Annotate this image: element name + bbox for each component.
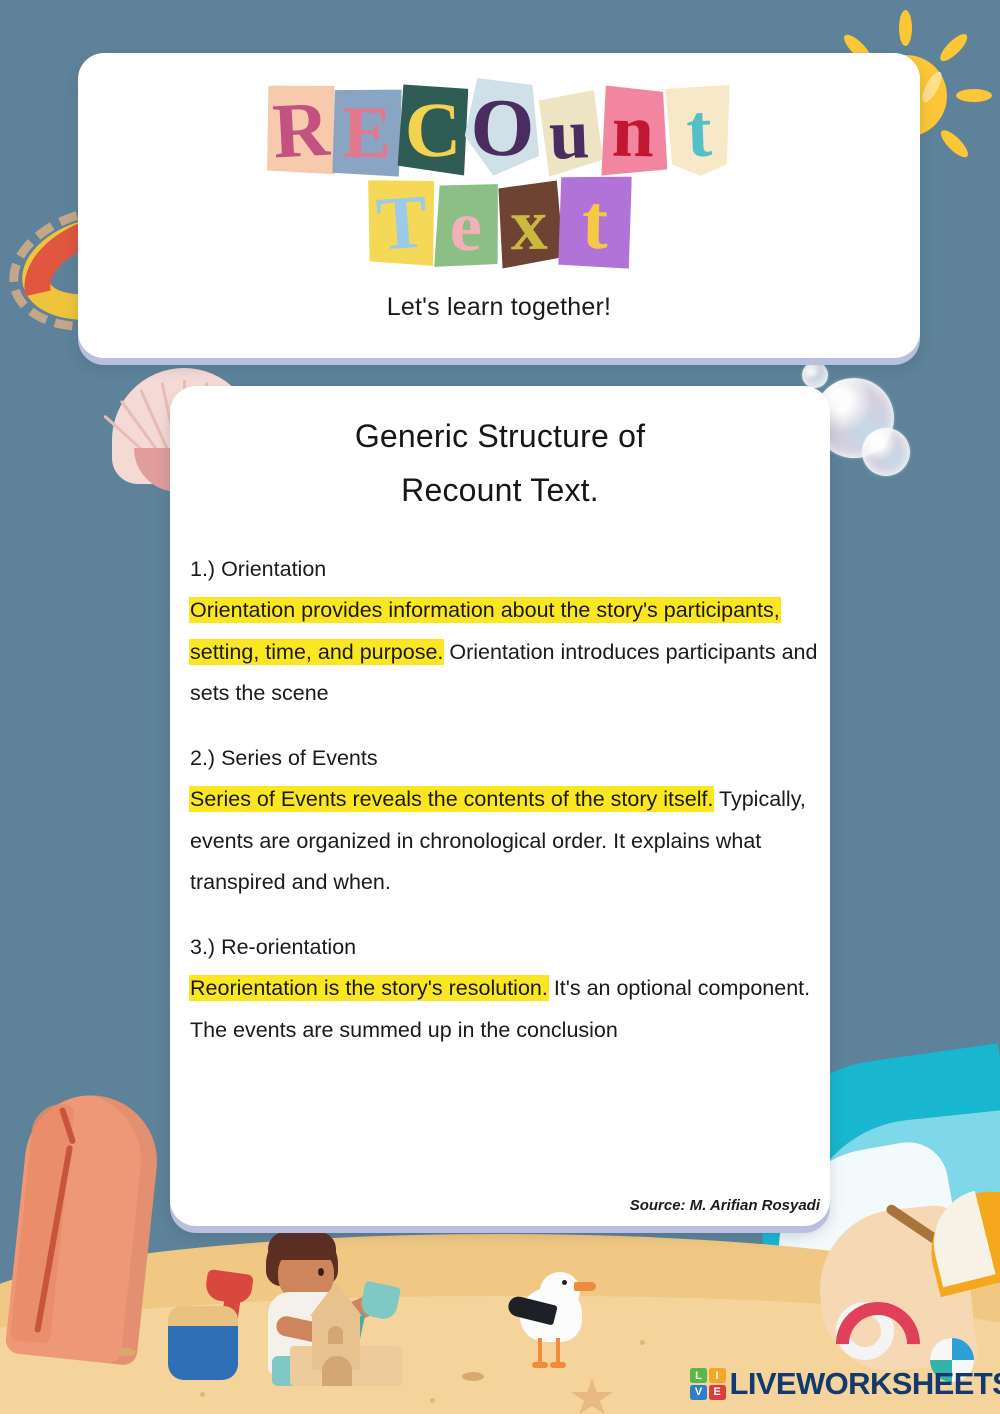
pebble-icon <box>118 1348 136 1356</box>
sections-list: 1.) OrientationOrientation provides info… <box>190 549 818 1051</box>
section-3: 3.) Re-orientationReorientation is the s… <box>190 927 818 1051</box>
bubbles-icon <box>862 428 910 476</box>
ransom-letter-t: t <box>662 85 735 177</box>
page-title-line1: Generic Structure of <box>170 410 830 464</box>
logo-tile-e: E <box>709 1385 726 1400</box>
section-title: 1.) Orientation <box>190 549 818 590</box>
surfboard-icon <box>5 1089 164 1366</box>
sand-bucket-icon <box>168 1306 238 1326</box>
bubbles-icon <box>802 362 828 388</box>
section-title: 3.) Re-orientation <box>190 927 818 968</box>
ransom-letter-E: E <box>332 88 402 176</box>
logo-tile-i: I <box>709 1368 726 1383</box>
page-title-line2: Recount Text. <box>170 464 830 518</box>
ransom-letter-n: n <box>597 85 669 176</box>
logo-tile-v: V <box>690 1385 707 1400</box>
ransom-letter-x: x <box>494 180 564 268</box>
highlighted-text: Series of Events reveals the contents of… <box>190 787 713 811</box>
section-2: 2.) Series of EventsSeries of Events rev… <box>190 738 818 903</box>
subtitle: Let's learn together! <box>78 293 920 322</box>
ransom-letter-C: C <box>396 83 470 176</box>
ransom-letter-u: u <box>534 90 603 177</box>
section-body: Series of Events reveals the contents of… <box>190 779 818 903</box>
ransom-letter-T: T <box>364 176 440 271</box>
section-title: 2.) Series of Events <box>190 738 818 779</box>
section-body: Reorientation is the story's resolution.… <box>190 968 818 1051</box>
section-1: 1.) OrientationOrientation provides info… <box>190 549 818 714</box>
ransom-letter-R: R <box>262 82 339 178</box>
ransom-letter-t: t <box>558 175 632 268</box>
ransom-letter-O: O <box>463 78 541 178</box>
ransom-title: RECOunt Text <box>78 79 920 268</box>
section-body: Orientation provides information about t… <box>190 590 818 714</box>
ransom-letter-e: e <box>432 182 501 269</box>
logo-tile-l: L <box>690 1368 707 1383</box>
life-ring-icon <box>836 1302 894 1360</box>
source-attribution: Source: M. Arifian Rosyadi <box>630 1197 820 1214</box>
ransom-title-line2: Text <box>78 176 920 268</box>
highlighted-text: Reorientation is the story's resolution. <box>190 976 548 1000</box>
logo-wordmark: LIVEWORKSHEETS <box>730 1366 1000 1402</box>
content-card: Generic Structure of Recount Text. 1.) O… <box>170 386 830 1226</box>
sand-bucket-icon <box>168 1318 238 1380</box>
logo-tiles: L I V E <box>690 1368 726 1400</box>
pebble-icon <box>462 1372 484 1381</box>
liveworksheets-logo[interactable]: L I V E LIVEWORKSHEETS <box>690 1366 1000 1402</box>
title-card: RECOunt Text Let's learn together! <box>78 53 920 358</box>
ransom-title-line1: RECOunt <box>78 79 920 176</box>
page-title: Generic Structure of Recount Text. <box>170 410 830 518</box>
